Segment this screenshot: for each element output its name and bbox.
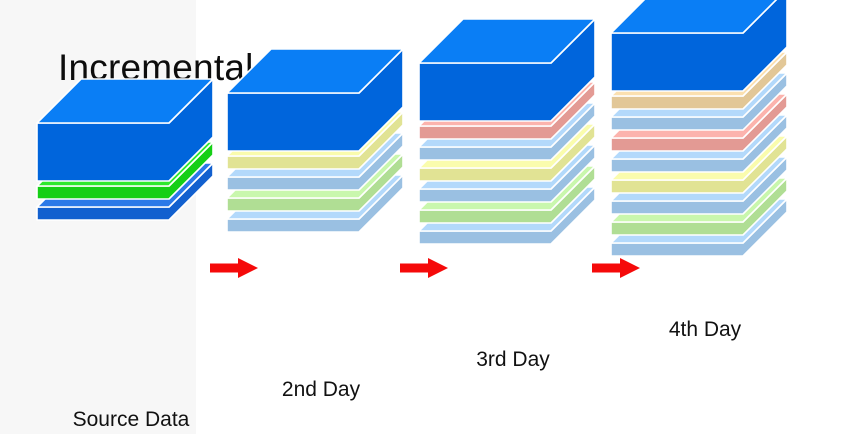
stack-fourth-day[interactable]: 4th Day: [610, 0, 800, 218]
arrow-source-to-2nd: [210, 258, 258, 278]
diagram-canvas: Incremental Backup Source Data: [0, 0, 862, 434]
third-day-layer-blue-top: [418, 18, 596, 122]
stack-source-data[interactable]: Source Data: [36, 78, 226, 308]
stack-layers-second-day: [226, 48, 416, 278]
stack-layers-fourth-day: [610, 0, 800, 218]
second-day-layer-blue-top: [226, 48, 404, 152]
stack-label-third-day: 3rd Day: [418, 348, 608, 372]
stack-layers-source-data: [36, 78, 226, 308]
source-data-layer-blue-top: [36, 78, 214, 182]
stack-second-day[interactable]: 2nd Day: [226, 48, 416, 278]
arrow-2nd-to-3rd: [400, 258, 448, 278]
stack-third-day[interactable]: 3rd Day: [418, 18, 608, 248]
stack-label-second-day: 2nd Day: [226, 378, 416, 402]
stack-label-fourth-day: 4th Day: [610, 318, 800, 342]
fourth-day-layer-blue-top: [610, 0, 788, 92]
arrow-3rd-to-4th: [592, 258, 640, 278]
stack-label-source-data: Source Data: [36, 408, 226, 432]
stack-layers-third-day: [418, 18, 608, 248]
